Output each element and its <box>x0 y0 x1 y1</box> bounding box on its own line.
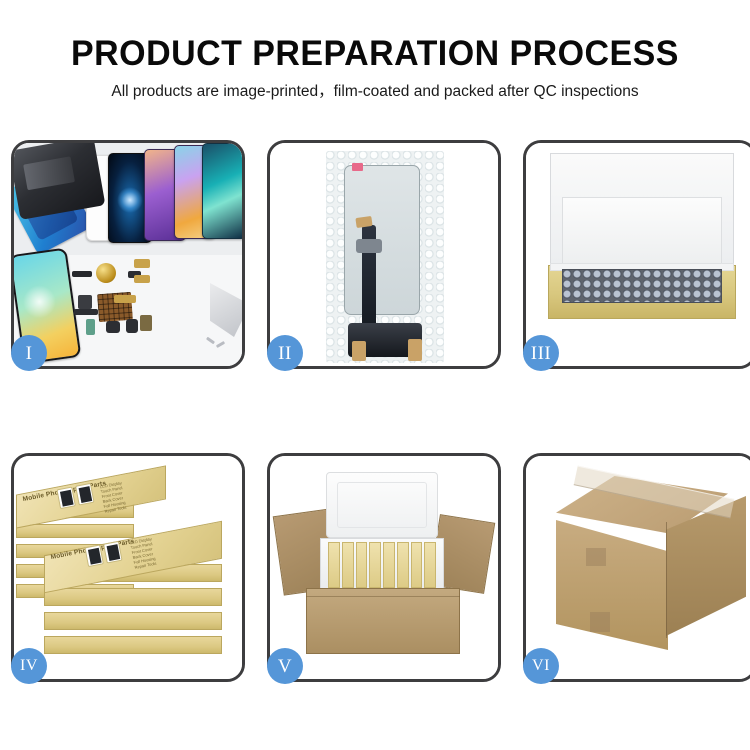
step-card-3: III <box>523 140 750 369</box>
part-icon <box>134 275 150 283</box>
packed-box <box>356 542 368 588</box>
step-card-1: I <box>11 140 245 369</box>
part-icon <box>106 321 120 333</box>
part-icon <box>140 315 152 331</box>
step-badge-3: III <box>523 335 559 371</box>
carton-front-face <box>556 520 668 650</box>
bubble-wrap-bag-icon <box>326 151 444 363</box>
sealed-carton-icon <box>540 476 744 666</box>
step-badge-5: V <box>267 648 303 684</box>
packed-box <box>397 542 409 588</box>
tape-icon <box>352 341 366 361</box>
teal-phone-screen-icon <box>202 143 242 239</box>
page-subtitle: All products are image-printed，film-coat… <box>0 82 750 102</box>
product-preparation-infographic: PRODUCT PREPARATION PROCESS All products… <box>0 0 750 750</box>
packed-boxes-row <box>328 542 436 588</box>
stacked-box <box>16 524 134 538</box>
packed-box <box>383 542 395 588</box>
stacked-boxes-photo: Mobile Phone Spare Parts Mobile Phone Sp… <box>14 456 242 679</box>
mini-phone-icon <box>56 486 76 509</box>
part-icon <box>86 319 95 335</box>
stacked-box <box>44 612 222 630</box>
process-steps-grid: I II <box>11 140 739 682</box>
part-icon <box>114 295 136 303</box>
part-icon <box>126 319 138 333</box>
packed-box <box>424 542 436 588</box>
mini-phone-icon <box>84 544 104 567</box>
step-badge-6: VI <box>523 648 559 684</box>
part-icon <box>74 309 98 315</box>
bubble-wrap-photo <box>270 143 498 366</box>
carton-seam <box>306 596 460 597</box>
stacked-box <box>44 588 222 606</box>
packed-box <box>342 542 354 588</box>
foam-sheet-icon <box>562 197 722 269</box>
page-title: PRODUCT PREPARATION PROCESS <box>11 32 739 76</box>
styrofoam-lid-icon <box>326 472 438 538</box>
step-card-5: V <box>267 453 501 682</box>
step-badge-4: IV <box>11 648 47 684</box>
carton-body-icon <box>306 588 460 654</box>
tape-icon <box>408 339 422 361</box>
flex-cable-icon <box>362 225 376 337</box>
carton-tab-icon <box>590 612 610 632</box>
packed-box <box>328 542 340 588</box>
qc-sticker-icon <box>352 163 363 171</box>
sealed-carton-photo <box>526 456 750 679</box>
step-badge-1: I <box>11 335 47 371</box>
part-icon <box>78 295 92 309</box>
box-stack: Mobile Phone Spare Parts Mobile Phone Sp… <box>16 472 242 672</box>
carton-seam <box>666 522 667 638</box>
carton-tab-icon <box>586 548 606 566</box>
carton-packing-photo <box>270 456 498 679</box>
header: PRODUCT PREPARATION PROCESS All products… <box>0 32 750 102</box>
stacked-box <box>44 636 222 654</box>
step-card-4: Mobile Phone Spare Parts Mobile Phone Sp… <box>11 453 245 682</box>
step-card-6: VI <box>523 453 750 682</box>
speaker-coil-icon <box>96 263 116 283</box>
part-icon <box>72 271 92 277</box>
packed-box <box>369 542 381 588</box>
bubble-wrapped-part-icon <box>562 269 722 303</box>
inner-box-photo <box>526 143 750 366</box>
step-card-2: II <box>267 140 501 369</box>
part-icon <box>134 259 150 268</box>
step-badge-2: II <box>267 335 303 371</box>
packed-box <box>411 542 423 588</box>
phone-parts-photo <box>14 143 242 366</box>
